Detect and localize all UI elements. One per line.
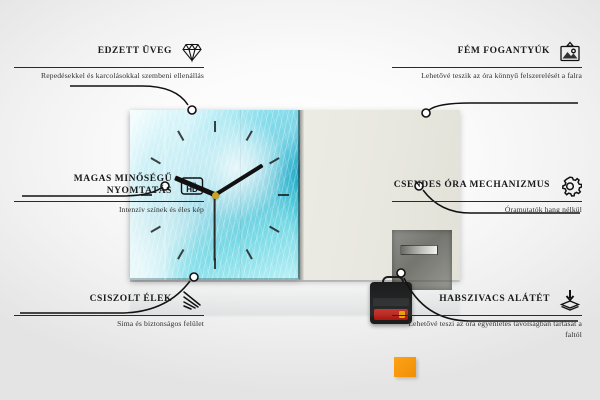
foam-pad xyxy=(394,357,416,377)
tick-mark xyxy=(177,249,184,260)
bracket-slot xyxy=(400,245,438,255)
minute-hand xyxy=(214,164,264,197)
callout-polished-edges[interactable]: CSISZOLT ÉLEK Sima és biztonságos felüle… xyxy=(14,288,204,330)
callout-title: CSENDES ÓRA MECHANIZMUS xyxy=(394,180,550,192)
callout-tempered-glass[interactable]: EDZETT ÜVEG Repedésekkel és karcolásokka… xyxy=(14,40,204,82)
ultra-hd-icon: ultra HD xyxy=(180,174,204,198)
polished-edge-icon xyxy=(180,288,204,312)
callout-subtitle: Intenzív színek és éles kép xyxy=(14,205,204,215)
gear-icon xyxy=(558,174,582,198)
callout-subtitle: Lehetővé teszik az óra könnyű felszerelé… xyxy=(392,71,582,81)
callout-title: MAGAS MINŐSÉGŰ NYOMTATÁS xyxy=(14,174,172,197)
arrow-press-pad-icon xyxy=(558,288,582,312)
callout-rule xyxy=(392,315,582,316)
callout-silent-mechanism[interactable]: CSENDES ÓRA MECHANIZMUS Óramutatók hang … xyxy=(392,174,582,216)
callout-rule xyxy=(392,67,582,68)
connector-metal-handles-tail xyxy=(430,103,505,110)
panel-seam xyxy=(300,110,304,280)
tick-mark xyxy=(214,258,216,269)
tick-mark xyxy=(269,157,280,164)
diamond-icon xyxy=(180,40,204,64)
tick-mark xyxy=(246,130,253,141)
infographic-stage: EDZETT ÜVEG Repedésekkel és karcolásokka… xyxy=(0,0,600,400)
connector-tempered-glass xyxy=(70,86,188,105)
callout-rule xyxy=(14,315,204,316)
tick-mark xyxy=(214,121,216,132)
callout-subtitle: Lehetővé teszi az óra egyenletes távolsá… xyxy=(392,319,582,340)
tick-mark xyxy=(177,130,184,141)
callout-rule xyxy=(14,67,204,68)
picture-frame-hook-icon xyxy=(558,40,582,64)
callout-subtitle: Óramutatók hang nélkül xyxy=(392,205,582,215)
tick-mark xyxy=(269,226,280,233)
tick-mark xyxy=(246,249,253,260)
hand-center-cap xyxy=(212,192,219,199)
callout-metal-handles[interactable]: FÉM FOGANTYÚK Lehetővé teszik az óra kön… xyxy=(392,40,582,82)
tick-mark xyxy=(150,226,161,233)
callout-title: EDZETT ÜVEG xyxy=(98,46,172,58)
tick-mark xyxy=(278,194,289,196)
callout-foam-pad[interactable]: HABSZIVACS ALÁTÉT Lehetővé teszi az óra … xyxy=(392,288,582,340)
callout-title: FÉM FOGANTYÚK xyxy=(458,46,550,58)
callout-subtitle: Sima és biztonságos felület xyxy=(14,319,204,329)
connector-metal-handles xyxy=(429,103,578,110)
callout-title: CSISZOLT ÉLEK xyxy=(90,294,172,306)
callout-hd-print[interactable]: MAGAS MINŐSÉGŰ NYOMTATÁS ultra HD Intenz… xyxy=(14,174,204,216)
callout-title: HABSZIVACS ALÁTÉT xyxy=(439,294,550,306)
ultra-hd-icon-bottom: HD xyxy=(186,185,198,194)
callout-rule xyxy=(14,201,204,202)
callout-subtitle: Repedésekkel és karcolásokkal szembeni e… xyxy=(14,71,204,81)
second-hand xyxy=(214,195,216,261)
callout-rule xyxy=(392,201,582,202)
tick-mark xyxy=(150,157,161,164)
